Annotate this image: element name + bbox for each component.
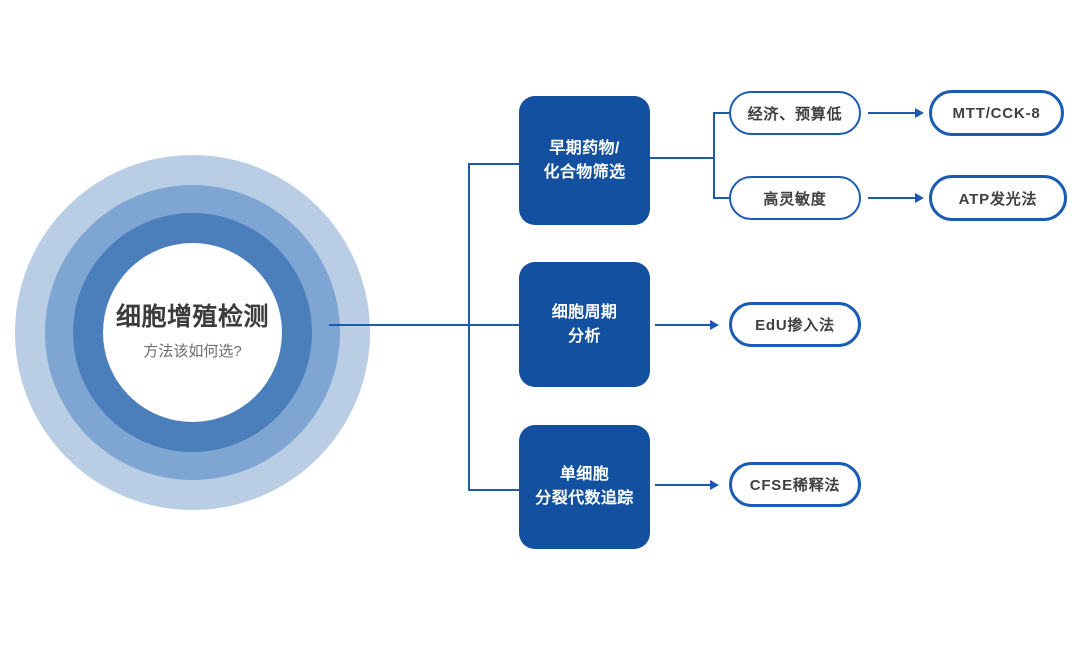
condition-label: 高灵敏度	[763, 188, 826, 209]
category-label: 细胞周期 分析	[552, 301, 618, 349]
connector-category1-stem	[650, 157, 714, 159]
method-pill-atp-luminescence[interactable]: ATP发光法	[929, 175, 1067, 221]
method-pill-cfse-dilution[interactable]: CFSE稀释法	[729, 462, 861, 507]
condition-pill-high-sensitivity[interactable]: 高灵敏度	[729, 176, 861, 220]
arrow-head-category2-to-method	[710, 320, 719, 330]
connector-trunk-to-category-3	[468, 489, 521, 491]
category-label: 单细胞 分裂代数追踪	[535, 463, 633, 511]
arrow-shaft-condition1-to-method1	[868, 112, 918, 114]
connector-trunk-vertical	[468, 163, 470, 491]
method-label: ATP发光法	[959, 188, 1038, 209]
hub-title: 细胞增殖检测	[116, 304, 269, 332]
diagram-canvas: 细胞增殖检测 方法该如何选? 早期药物/ 化合物筛选 细胞周期 分析 单细胞 分…	[0, 0, 1080, 647]
connector-hub-to-trunk	[329, 324, 470, 326]
method-label: MTT/CCK-8	[952, 105, 1040, 122]
condition-label: 经济、预算低	[748, 103, 843, 124]
method-label: EdU掺入法	[755, 314, 835, 335]
arrow-shaft-category2-to-method	[655, 324, 713, 326]
connector-trunk-to-category-1	[468, 163, 521, 165]
method-pill-edu-incorporation[interactable]: EdU掺入法	[729, 302, 861, 347]
connector-category1-split	[713, 112, 715, 199]
category-box-single-cell[interactable]: 单细胞 分裂代数追踪	[519, 425, 650, 549]
arrow-head-condition1-to-method1	[915, 108, 924, 118]
connector-trunk-to-category-2	[468, 324, 521, 326]
hub-core: 细胞增殖检测 方法该如何选?	[103, 243, 282, 422]
hub-subtitle: 方法该如何选?	[143, 340, 241, 361]
condition-pill-low-budget[interactable]: 经济、预算低	[729, 91, 861, 135]
category-box-cell-cycle[interactable]: 细胞周期 分析	[519, 262, 650, 387]
method-pill-mtt-cck8[interactable]: MTT/CCK-8	[929, 90, 1064, 136]
method-label: CFSE稀释法	[750, 474, 841, 495]
arrow-head-condition2-to-method2	[915, 193, 924, 203]
arrow-head-category3-to-method	[710, 480, 719, 490]
hub-node: 细胞增殖检测 方法该如何选?	[15, 155, 370, 510]
arrow-shaft-category3-to-method	[655, 484, 713, 486]
category-label: 早期药物/ 化合物筛选	[543, 137, 625, 185]
category-box-drug-screening[interactable]: 早期药物/ 化合物筛选	[519, 96, 650, 225]
arrow-shaft-condition2-to-method2	[868, 197, 918, 199]
